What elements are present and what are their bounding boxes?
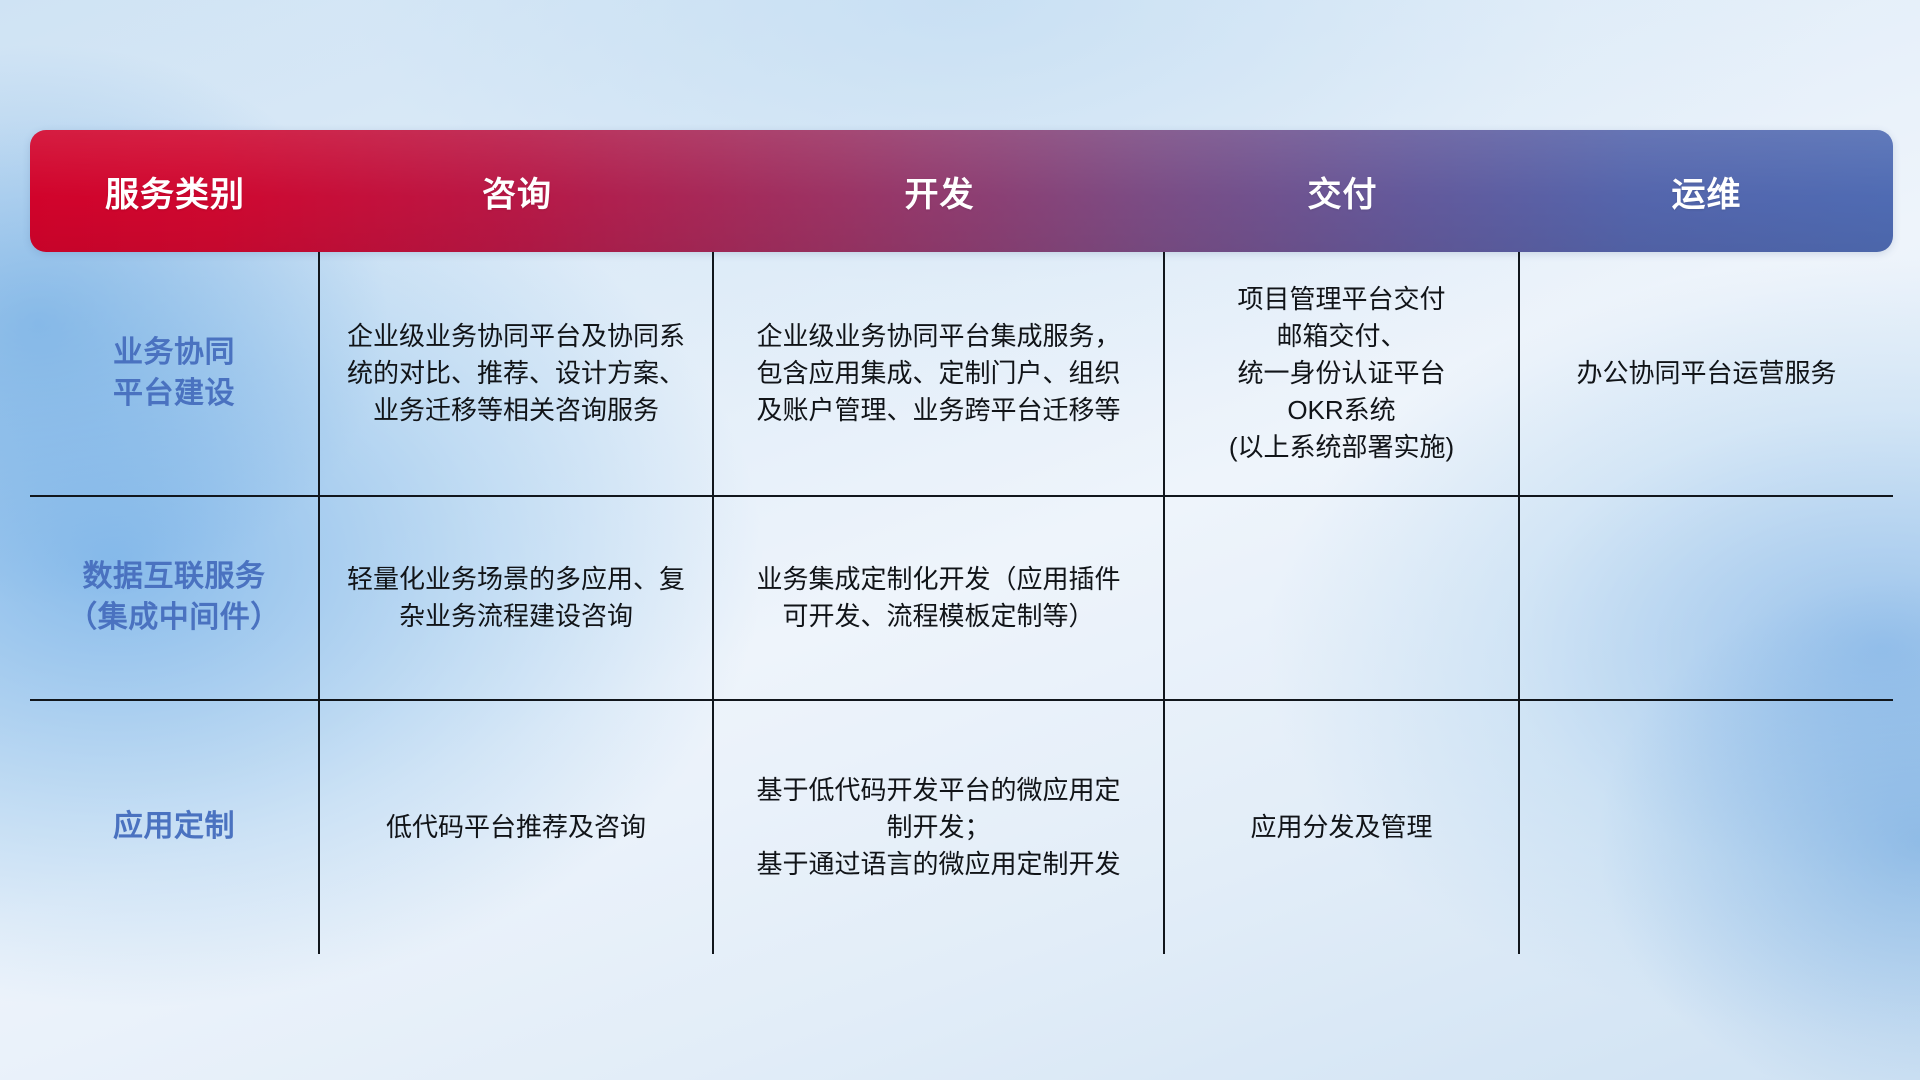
table-header-row: 服务类别 咨询 开发 交付 运维: [30, 130, 1893, 252]
cell-delivery: 应用分发及管理: [1165, 701, 1520, 954]
table-body: 业务协同 平台建设 企业级业务协同平台及协同系 统的对比、推荐、设计方案、 业务…: [30, 252, 1893, 954]
column-header-delivery: 交付: [1165, 167, 1520, 216]
cell-operations: 办公协同平台运营服务: [1520, 252, 1893, 495]
cell-development: 企业级业务协同平台集成服务， 包含应用集成、定制门户、组织 及账户管理、业务跨平…: [714, 252, 1165, 495]
table-row: 数据互联服务 （集成中间件） 轻量化业务场景的多应用、复 杂业务流程建设咨询 业…: [30, 497, 1893, 701]
row-category-label: 应用定制: [30, 701, 320, 954]
row-category-label: 业务协同 平台建设: [30, 252, 320, 495]
service-matrix-table: 服务类别 咨询 开发 交付 运维 业务协同 平台建设 企业级业务协同平台及协同系…: [30, 130, 1893, 954]
column-header-operations: 运维: [1520, 167, 1893, 216]
column-header-category: 服务类别: [30, 167, 320, 216]
table-row: 应用定制 低代码平台推荐及咨询 基于低代码开发平台的微应用定 制开发； 基于通过…: [30, 701, 1893, 954]
cell-delivery: 项目管理平台交付 邮箱交付、 统一身份认证平台 OKR系统 (以上系统部署实施): [1165, 252, 1520, 495]
table-row: 业务协同 平台建设 企业级业务协同平台及协同系 统的对比、推荐、设计方案、 业务…: [30, 252, 1893, 497]
cell-operations: [1520, 497, 1893, 699]
cell-consulting: 低代码平台推荐及咨询: [320, 701, 714, 954]
cell-delivery: [1165, 497, 1520, 699]
row-category-label: 数据互联服务 （集成中间件）: [30, 497, 320, 699]
column-header-consulting: 咨询: [320, 167, 714, 216]
column-header-development: 开发: [714, 167, 1165, 216]
cell-consulting: 企业级业务协同平台及协同系 统的对比、推荐、设计方案、 业务迁移等相关咨询服务: [320, 252, 714, 495]
cell-consulting: 轻量化业务场景的多应用、复 杂业务流程建设咨询: [320, 497, 714, 699]
cell-development: 基于低代码开发平台的微应用定 制开发； 基于通过语言的微应用定制开发: [714, 701, 1165, 954]
cell-development: 业务集成定制化开发（应用插件 可开发、流程模板定制等）: [714, 497, 1165, 699]
cell-operations: [1520, 701, 1893, 954]
